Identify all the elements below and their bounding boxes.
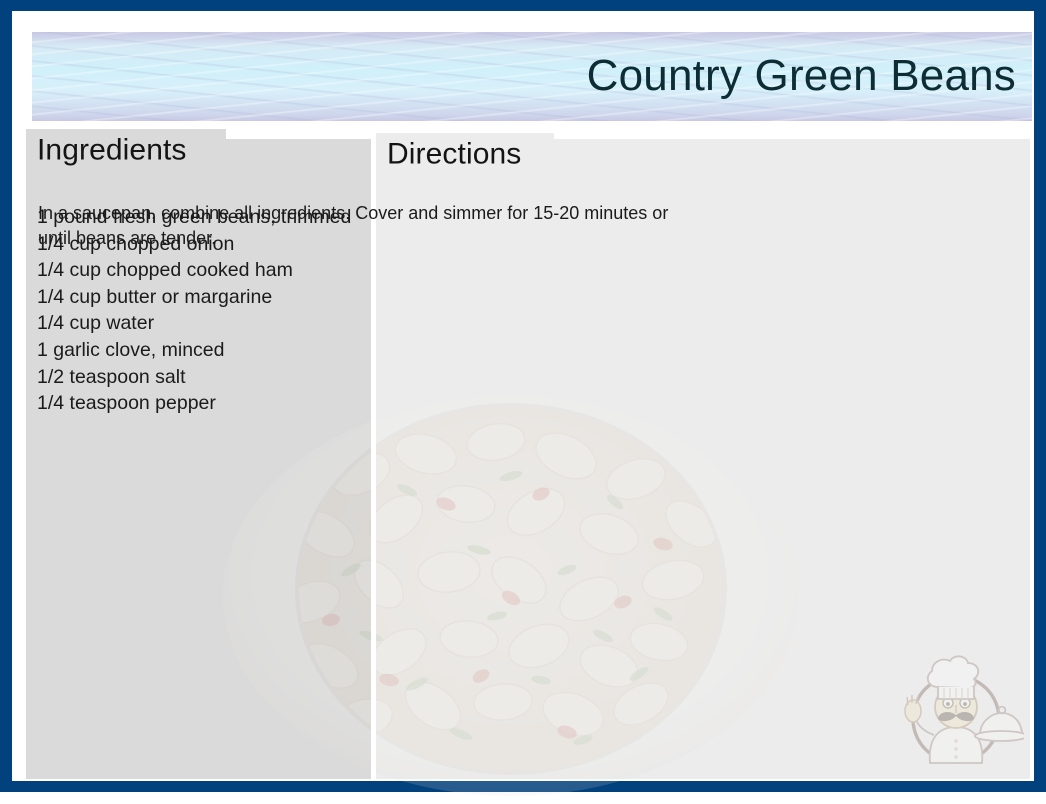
list-item: 1/4 cup butter or margarine bbox=[37, 284, 367, 311]
content-area: Ingredients 1 pound fresh green beans, t… bbox=[26, 139, 1030, 779]
recipe-card-inner: Country Green Beans bbox=[12, 11, 1034, 781]
title-banner: Country Green Beans bbox=[32, 32, 1032, 121]
ingredients-heading: Ingredients bbox=[37, 133, 187, 167]
list-item: 1/4 cup chopped cooked ham bbox=[37, 257, 367, 284]
list-item: 1/4 cup water bbox=[37, 310, 367, 337]
recipe-card-frame: Country Green Beans bbox=[0, 0, 1046, 792]
page-title: Country Green Beans bbox=[587, 51, 1016, 101]
directions-body: In a saucepan, combine all ingredients. … bbox=[38, 201, 670, 251]
ingredients-header-tab: Ingredients bbox=[26, 129, 226, 174]
list-item: 1 garlic clove, minced bbox=[37, 337, 367, 364]
list-item: 1/2 teaspoon salt bbox=[37, 364, 367, 391]
directions-header-tab: Directions bbox=[376, 133, 554, 178]
directions-heading: Directions bbox=[387, 137, 521, 171]
list-item: 1/4 teaspoon pepper bbox=[37, 390, 367, 417]
